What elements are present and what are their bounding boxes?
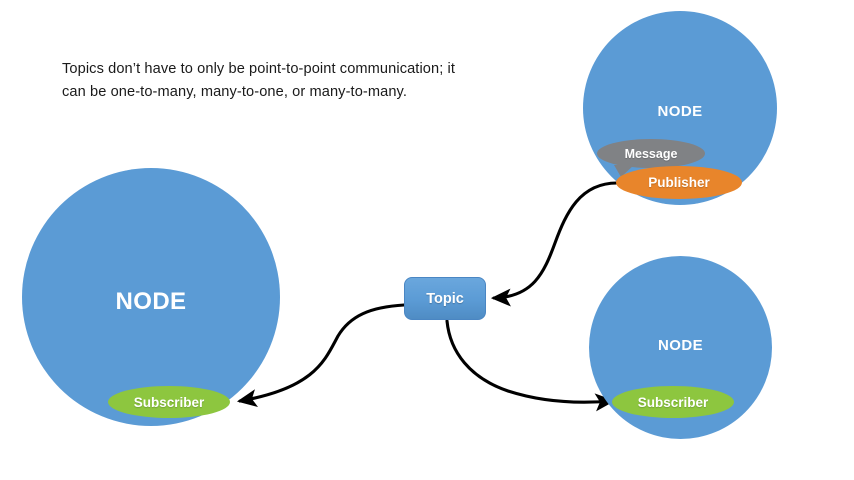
subscriber-left-label: Subscriber: [134, 395, 205, 410]
message-bubble[interactable]: Message: [597, 139, 705, 168]
node-top-right-label: NODE: [583, 103, 777, 120]
publisher-label: Publisher: [648, 175, 710, 190]
caption-text: Topics don’t have to only be point-to-po…: [62, 58, 482, 103]
subscriber-pill-left[interactable]: Subscriber: [108, 386, 230, 418]
slide-canvas: Topics don’t have to only be point-to-po…: [0, 0, 854, 480]
node-bottom-right-label: NODE: [589, 337, 772, 354]
arrow-publisher-to-topic: [494, 183, 617, 298]
subscriber-bottom-right-label: Subscriber: [638, 395, 709, 410]
publisher-pill[interactable]: Publisher: [616, 166, 742, 199]
subscriber-pill-bottom-right[interactable]: Subscriber: [612, 386, 734, 418]
arrow-topic-to-bottom-right-subscriber: [447, 321, 612, 402]
topic-label: Topic: [426, 291, 464, 307]
node-left-label: NODE: [22, 288, 280, 316]
topic-box[interactable]: Topic: [404, 277, 486, 320]
message-label: Message: [625, 147, 678, 161]
